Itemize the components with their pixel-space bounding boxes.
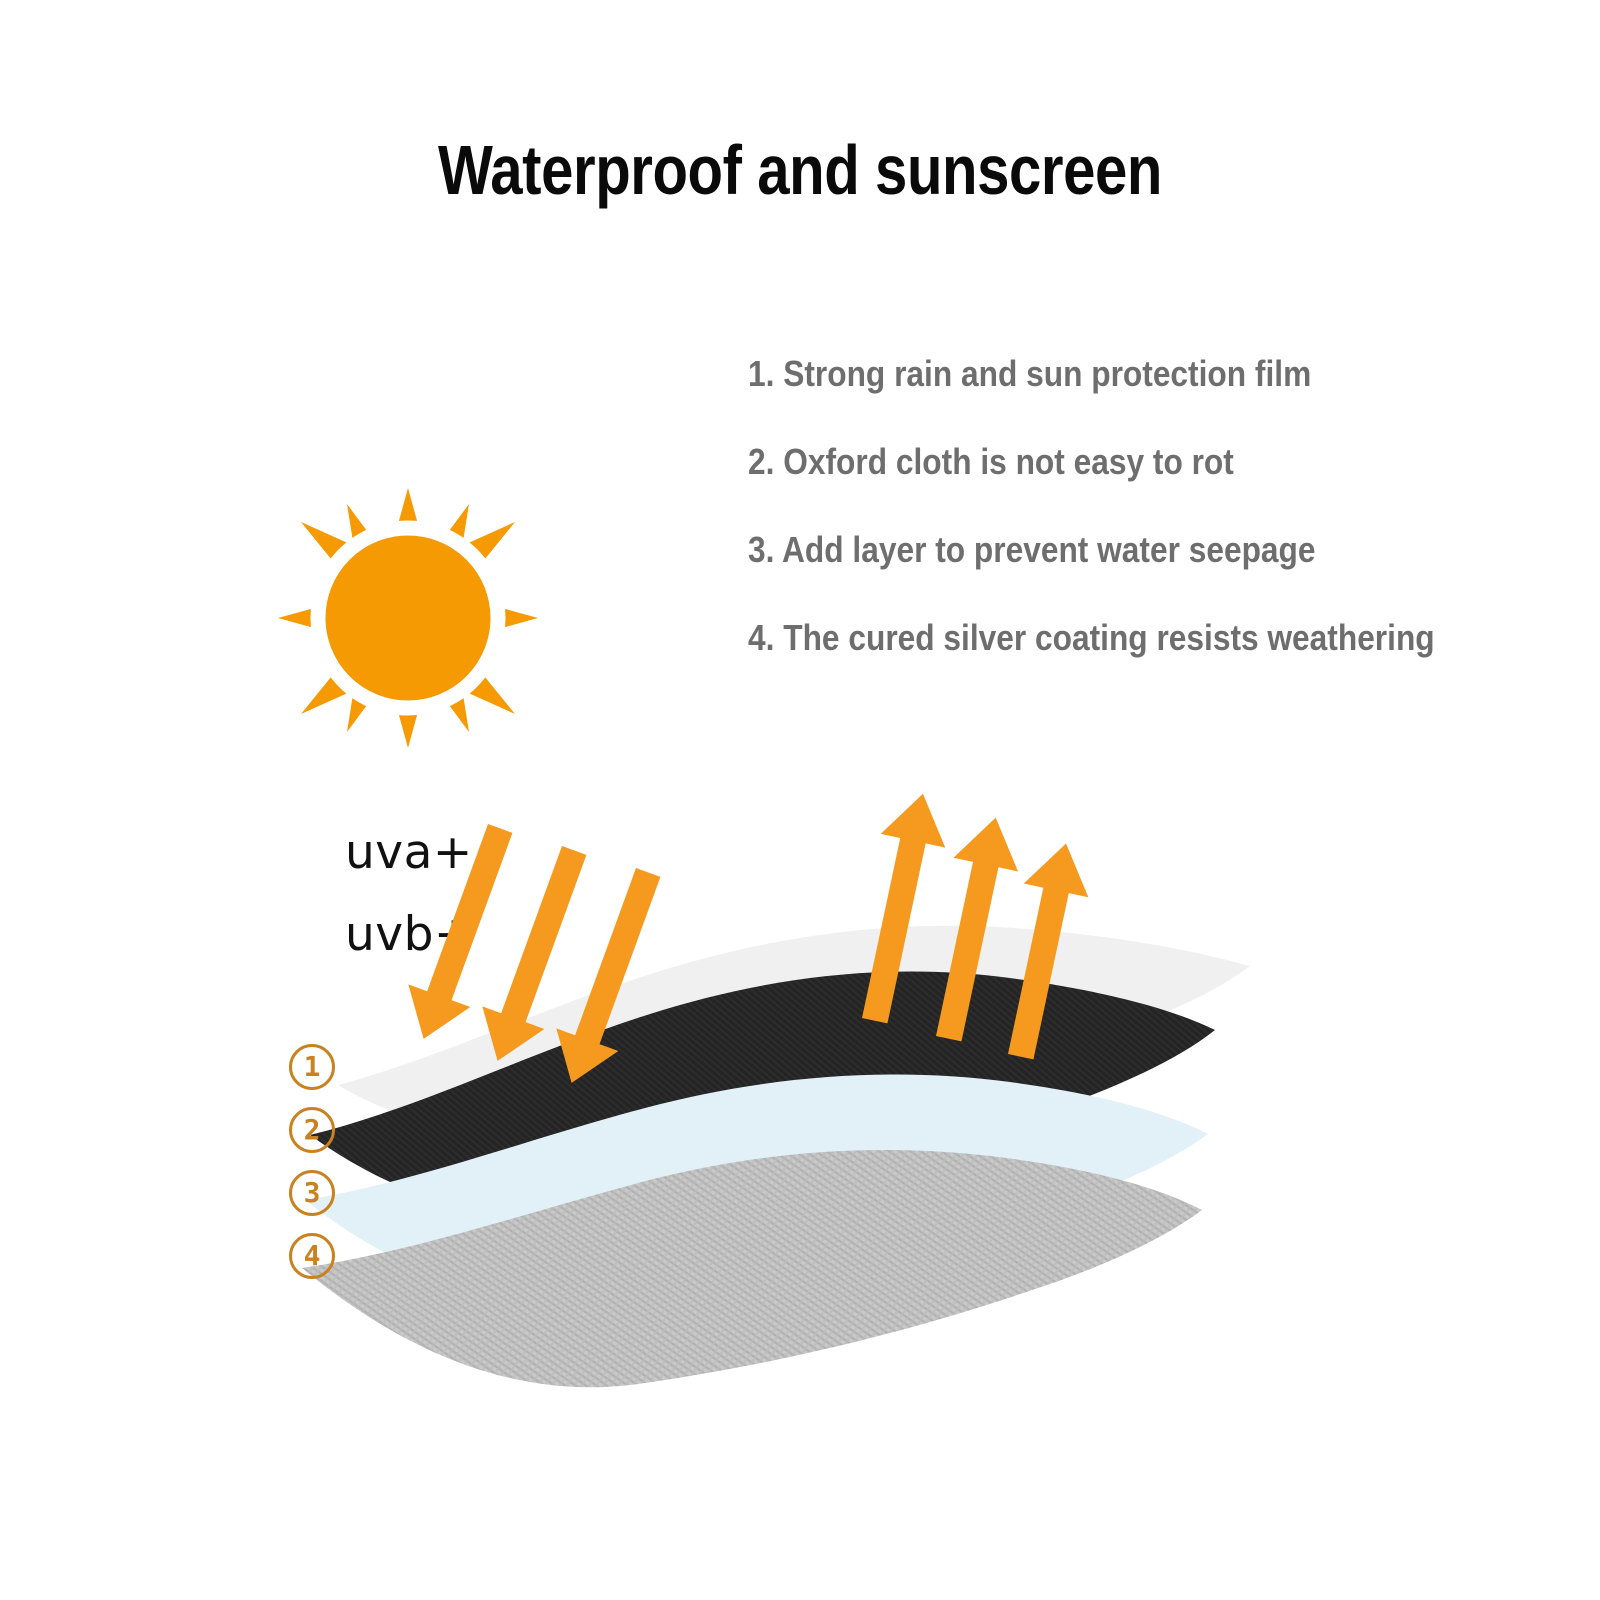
- layer-stack-diagram: [250, 790, 1320, 1410]
- feature-item-3: 3. Add layer to prevent water seepage: [748, 528, 1470, 572]
- layer-badge-2: 2: [289, 1107, 335, 1153]
- layer-badge-4: 4: [289, 1233, 335, 1279]
- feature-item-2: 2. Oxford cloth is not easy to rot: [748, 440, 1470, 484]
- page-title: Waterproof and sunscreen: [136, 128, 1464, 212]
- layer-badge-1: 1: [289, 1044, 335, 1090]
- layer-badge-3: 3: [289, 1170, 335, 1216]
- feature-list: 1. Strong rain and sun protection film 2…: [748, 352, 1568, 660]
- sun-icon: [262, 472, 554, 764]
- feature-item-1: 1. Strong rain and sun protection film: [748, 352, 1470, 396]
- feature-item-4: 4. The cured silver coating resists weat…: [748, 616, 1470, 660]
- infographic-canvas: Waterproof and sunscreen: [0, 0, 1600, 1600]
